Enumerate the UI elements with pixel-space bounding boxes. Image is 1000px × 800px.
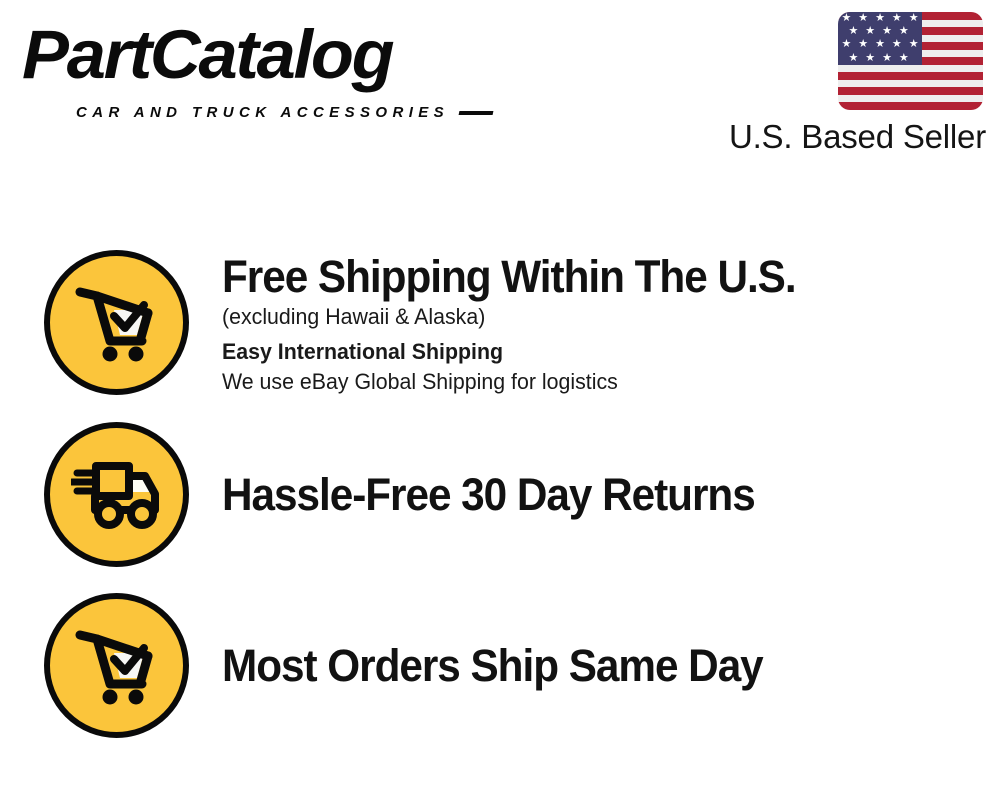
shopping-cart-check-icon (44, 250, 189, 395)
flag-stars: ★★★★★ ★★★★ ★★★★★ ★★★★ (838, 12, 922, 65)
shopping-cart-check-icon (44, 593, 189, 738)
brand-tagline: CAR AND TRUCK ACCESSORIES (76, 104, 449, 121)
feature-row-free-shipping: Free Shipping Within The U.S. (excluding… (0, 250, 1000, 400)
delivery-truck-icon (44, 422, 189, 567)
feature-row-returns: Hassle-Free 30 Day Returns (0, 422, 1000, 572)
shipping-info-banner: PartCatalog CAR AND TRUCK ACCESSORIES ★★… (0, 0, 1000, 800)
feature-text-free-shipping: Free Shipping Within The U.S. (excluding… (222, 250, 982, 397)
feature-subtext-logistics: We use eBay Global Shipping for logistic… (222, 367, 959, 397)
brand-tagline-row: CAR AND TRUCK ACCESSORIES (76, 104, 496, 121)
feature-row-same-day: Most Orders Ship Same Day (0, 593, 1000, 743)
us-flag-icon: ★★★★★ ★★★★ ★★★★★ ★★★★ (838, 12, 983, 110)
feature-heading: Hassle-Free 30 Day Returns (222, 470, 936, 520)
feature-text-returns: Hassle-Free 30 Day Returns (222, 422, 982, 567)
flag-canton: ★★★★★ ★★★★ ★★★★★ ★★★★ (838, 12, 922, 65)
feature-heading: Most Orders Ship Same Day (222, 641, 936, 691)
us-based-seller-label: U.S. Based Seller (729, 117, 986, 157)
tagline-rule (459, 111, 494, 115)
brand-logo: PartCatalog CAR AND TRUCK ACCESSORIES (22, 18, 492, 118)
feature-heading: Free Shipping Within The U.S. (222, 252, 936, 302)
feature-text-same-day: Most Orders Ship Same Day (222, 593, 982, 738)
feature-subtext-exclusions: (excluding Hawaii & Alaska) (222, 302, 959, 332)
brand-wordmark: PartCatalog (22, 18, 392, 92)
feature-subtext-international: Easy International Shipping (222, 337, 959, 367)
